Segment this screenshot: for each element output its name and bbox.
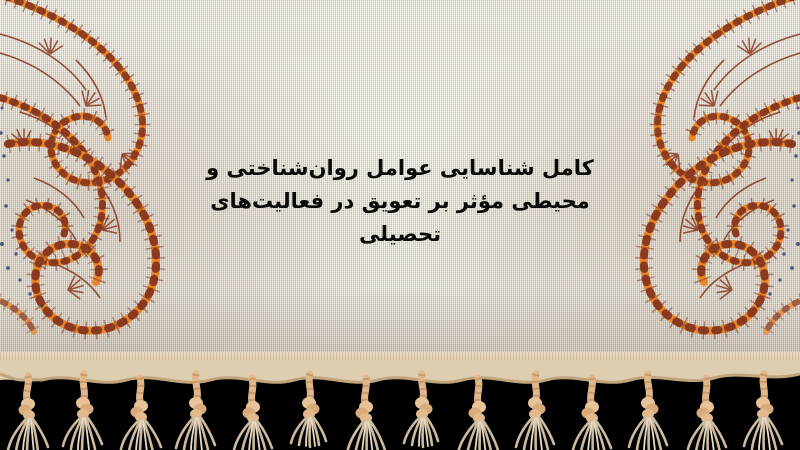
title-line-3: تحصیلی bbox=[200, 218, 600, 251]
slide-title: کامل شناسایی عوامل روان‌شناختی و محیطی م… bbox=[200, 152, 600, 251]
tassel-icon-fringe-row bbox=[0, 360, 800, 450]
slide-canvas: کامل شناسایی عوامل روان‌شناختی و محیطی م… bbox=[0, 0, 800, 450]
title-line-2: محیطی مؤثر بر تعویق در فعالیت‌های bbox=[200, 185, 600, 218]
title-line-1: کامل شناسایی عوامل روان‌شناختی و bbox=[200, 152, 600, 185]
